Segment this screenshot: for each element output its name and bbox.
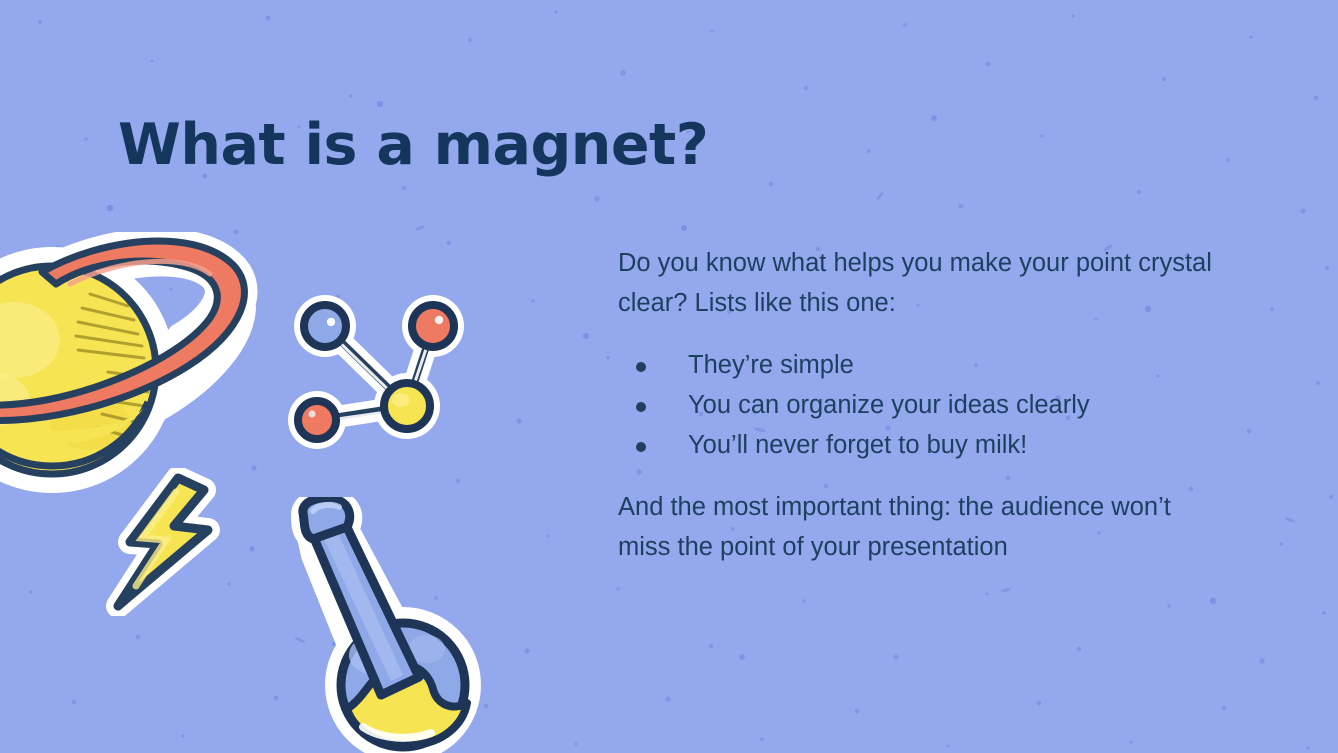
list-item: You can organize your ideas clearly [618,385,1218,425]
list-item-label: You can organize your ideas clearly [688,391,1090,419]
slide-title: What is a magnet? [118,116,708,176]
list-item: You’ll never forget to buy milk! [618,425,1218,465]
presentation-slide: What is a magnet? [0,0,1338,753]
list-item-label: They’re simple [688,351,854,379]
planet-saturn-icon [0,232,262,497]
body-text-column: Do you know what helps you make your poi… [618,243,1218,567]
bullet-dot-icon [636,442,646,452]
closing-paragraph: And the most important thing: the audien… [618,487,1218,567]
bullet-list: They’re simple You can organize your ide… [618,345,1218,465]
molecule-icon [281,278,471,463]
intro-paragraph: Do you know what helps you make your poi… [618,243,1218,323]
flask-icon [277,497,487,753]
bullet-dot-icon [636,362,646,372]
list-item-label: You’ll never forget to buy milk! [688,431,1027,459]
lightning-bolt-icon [96,468,236,616]
list-item: They’re simple [618,345,1218,385]
bullet-dot-icon [636,402,646,412]
